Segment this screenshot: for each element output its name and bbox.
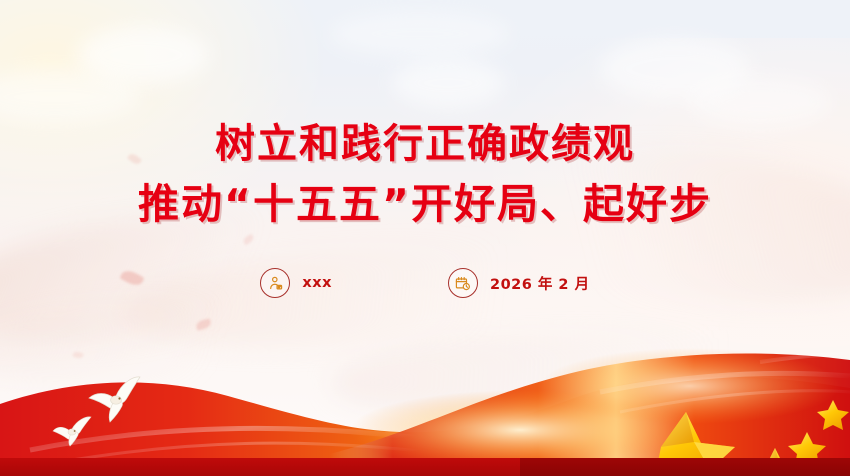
cloud-shape [330, 12, 510, 56]
presenter-meta: xxx [260, 268, 332, 298]
bottom-bar-right [520, 458, 850, 476]
dove-icon [86, 374, 142, 429]
user-icon [260, 268, 290, 298]
title-line-2: 推动“十五五”开好局、起好步 [0, 178, 850, 231]
date-meta: 2026 年 2 月 [448, 268, 590, 298]
title-line-1: 树立和践行正确政绩观 [0, 118, 850, 170]
presentation-date: 2026 年 2 月 [490, 273, 590, 294]
calendar-clock-icon [448, 268, 478, 298]
slide-title: 树立和践行正确政绩观 推动“十五五”开好局、起好步 [0, 118, 850, 231]
cloud-shape [78, 26, 208, 84]
presenter-name: xxx [302, 275, 332, 291]
cloud-shape [392, 58, 504, 108]
dove-icon [52, 415, 92, 452]
presentation-slide: 树立和践行正确政绩观 推动“十五五”开好局、起好步 xxx [0, 0, 850, 476]
slide-byline: xxx 2026 年 2 月 [0, 268, 850, 298]
